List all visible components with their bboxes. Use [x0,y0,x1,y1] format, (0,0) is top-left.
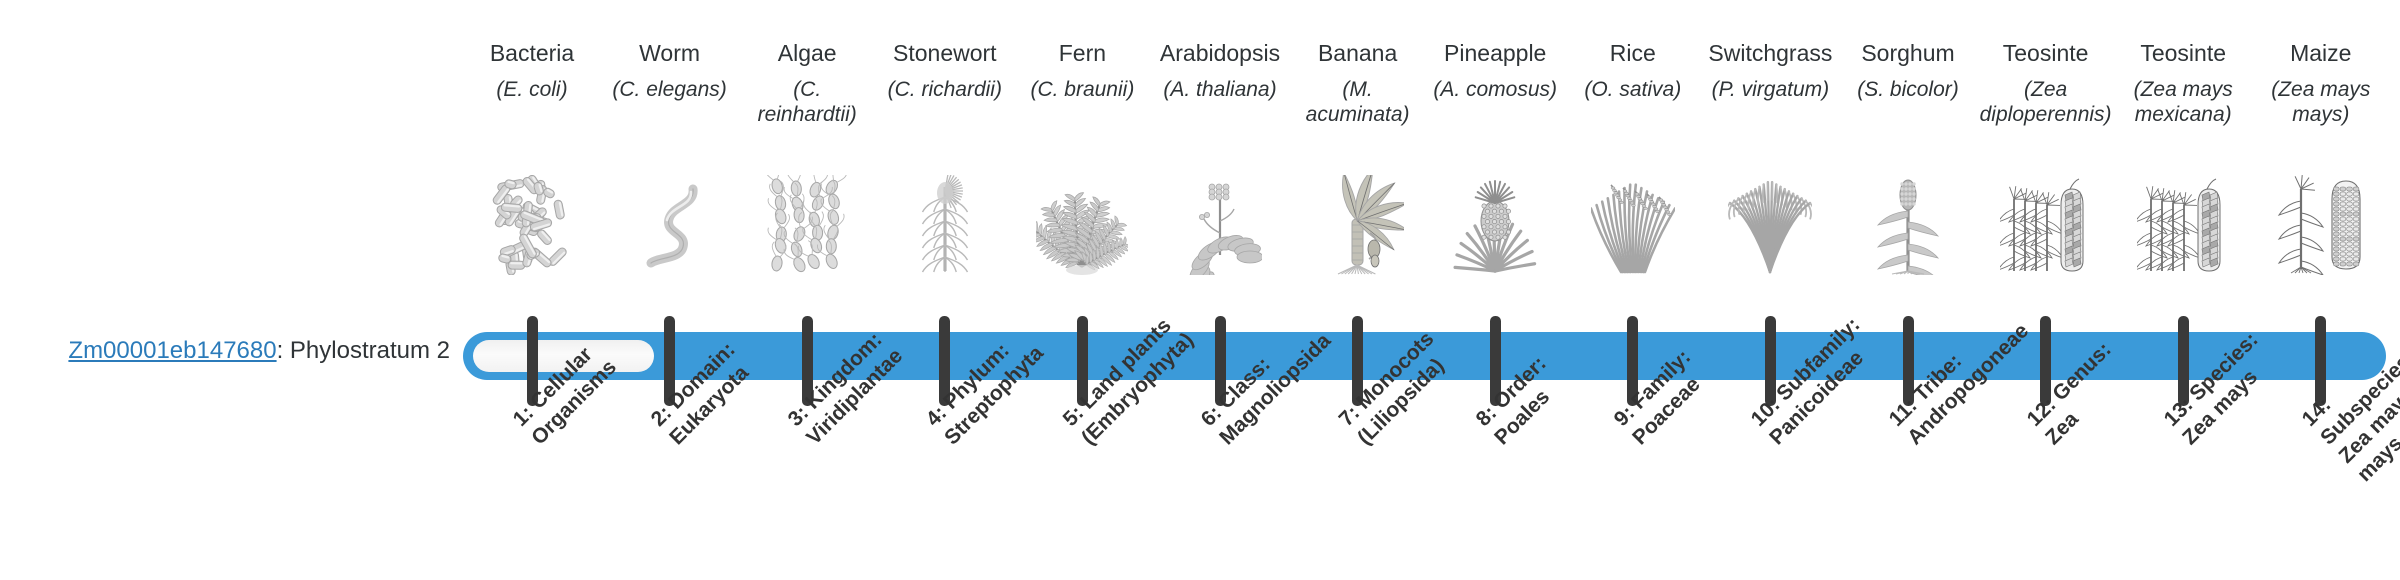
phylostratum-track-wrap [0,0,2400,580]
phylostratum-figure: Zm00001eb147680: Phylostratum 2 Bacteria… [0,0,2400,580]
